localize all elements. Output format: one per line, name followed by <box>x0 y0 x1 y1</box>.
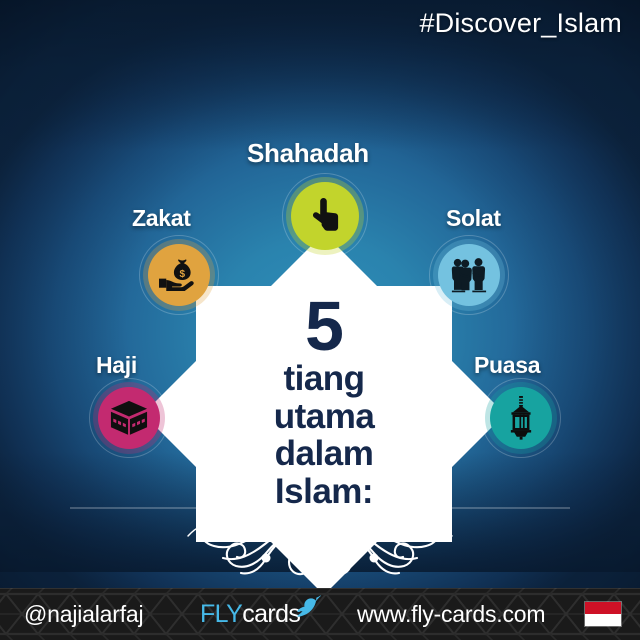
brand-fly-text: FLY <box>200 600 242 629</box>
center-line-2: utama <box>274 398 375 436</box>
footer-bar: @najialarfaj FLY cards www.fly-cards.com <box>0 588 640 640</box>
brand-cards-text: cards <box>242 600 300 629</box>
pillar-icon-haji[interactable] <box>98 387 160 449</box>
pointing-finger-icon <box>308 196 342 236</box>
author-handle[interactable]: @najialarfaj <box>24 601 143 628</box>
lantern-icon <box>507 396 535 440</box>
pillar-label-shahadah: Shahadah <box>247 138 369 169</box>
hashtag-label: #Discover_Islam <box>419 8 622 39</box>
center-line-3: dalam <box>275 435 374 473</box>
flag-stripe-white <box>585 614 621 626</box>
praying-people-icon <box>449 256 489 294</box>
pillar-label-zakat: Zakat <box>132 205 191 232</box>
pillar-label-puasa: Puasa <box>474 352 540 379</box>
pillar-label-solat: Solat <box>446 205 501 232</box>
flag-stripe-red <box>585 602 621 614</box>
infographic-canvas: #Discover_Islam 5 tiang utama dalam Isla… <box>0 0 640 640</box>
floral-flourish-divider <box>70 496 570 578</box>
flycards-logo[interactable]: FLY cards <box>200 600 322 629</box>
pillar-label-haji: Haji <box>96 352 137 379</box>
pillar-count-number: 5 <box>305 294 343 360</box>
footer-divider <box>0 588 640 589</box>
pillar-icon-puasa[interactable] <box>490 387 552 449</box>
website-url[interactable]: www.fly-cards.com <box>357 601 545 628</box>
pillar-icon-shahadah[interactable] <box>291 182 359 250</box>
indonesia-flag-icon <box>584 601 622 627</box>
center-line-1: tiang <box>283 360 364 398</box>
bird-icon <box>296 595 322 624</box>
hand-money-bag-icon: $ <box>159 259 199 291</box>
kaaba-icon <box>109 399 149 437</box>
svg-text:$: $ <box>179 269 185 280</box>
